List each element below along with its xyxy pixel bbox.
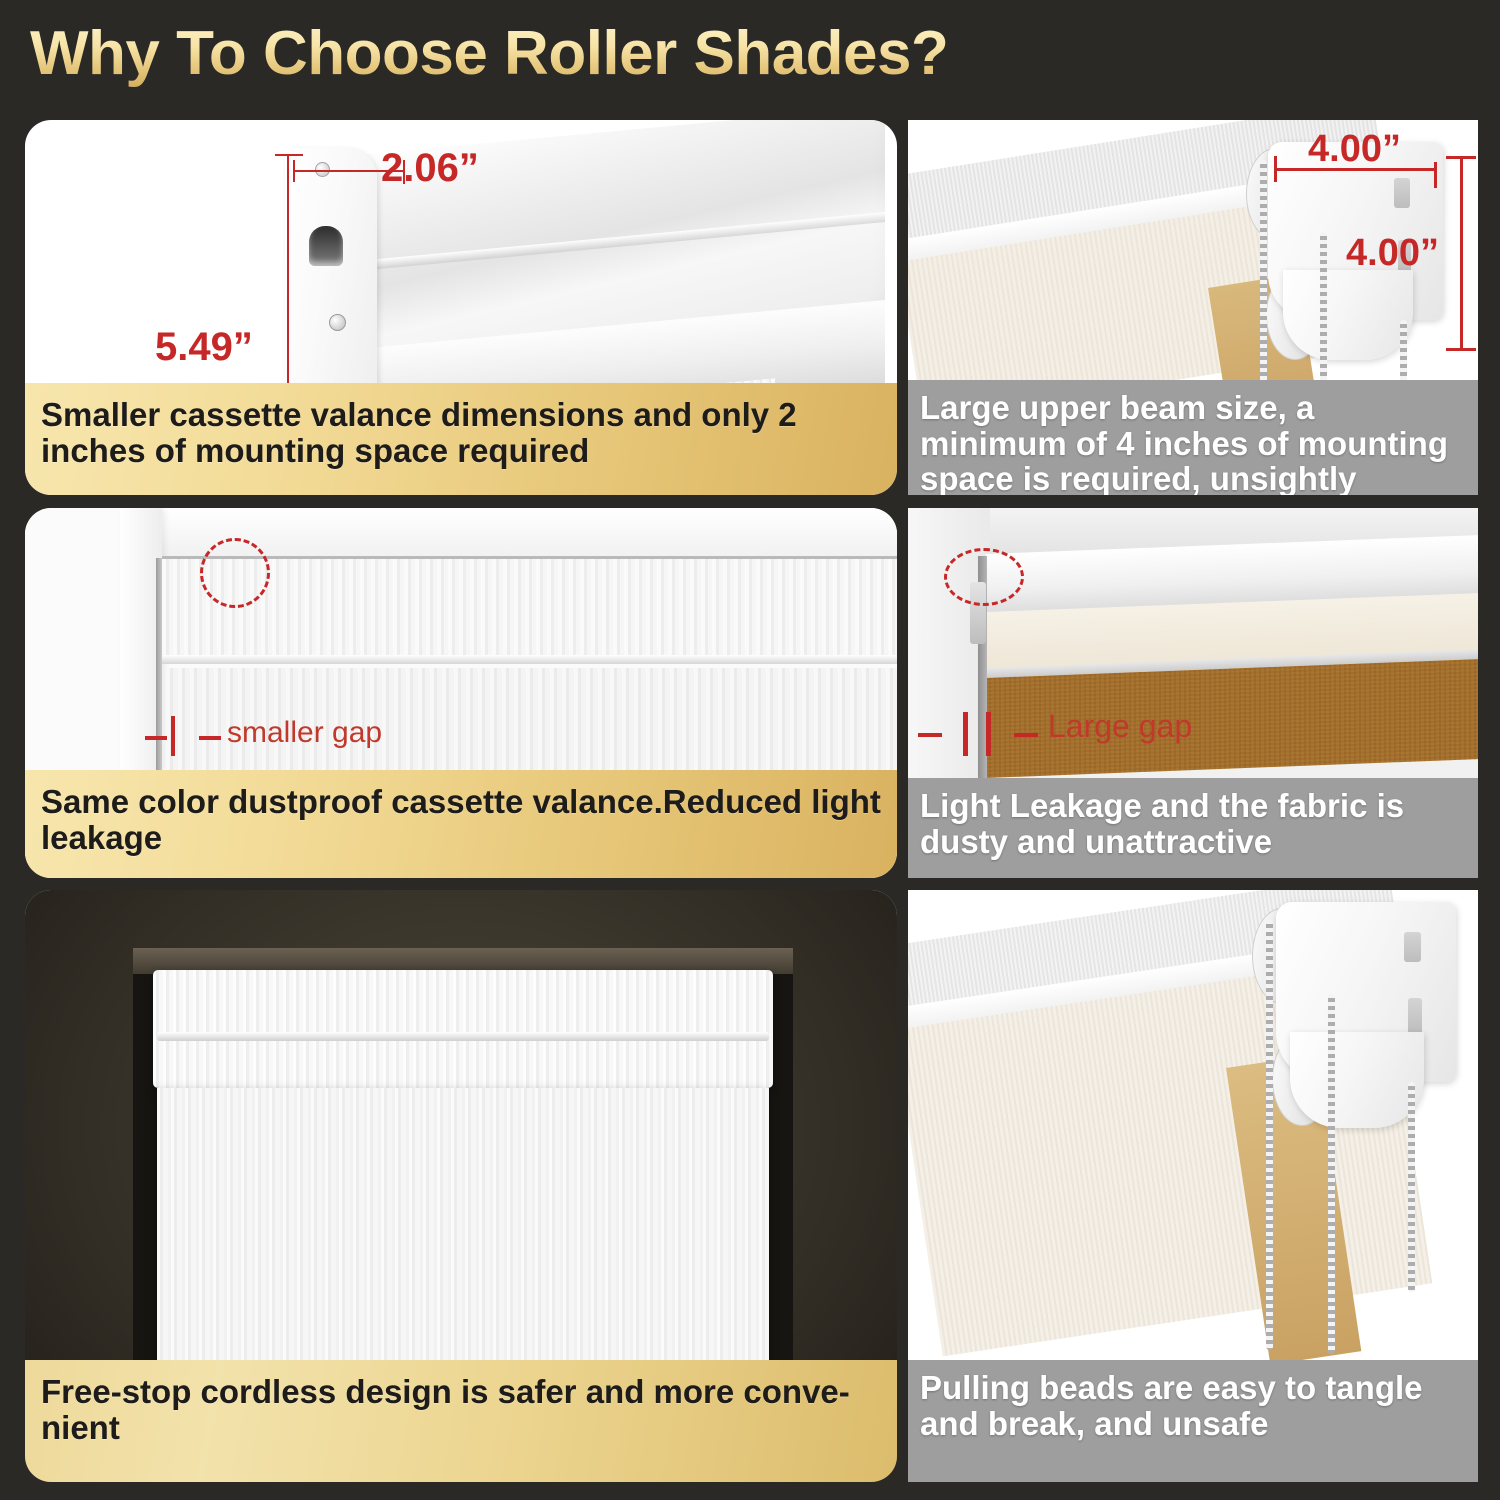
cassette-valance bbox=[153, 970, 773, 1088]
dimension-label-height: 4.00” bbox=[1346, 232, 1439, 275]
dimension-tick bbox=[275, 154, 303, 156]
panel-smaller-cassette: 2.06” 5.49” Smaller cassette valance dim… bbox=[25, 120, 897, 495]
arrow-shaft bbox=[918, 733, 942, 737]
panel-cordless-design: Free-stop cordless design is safer and m… bbox=[25, 890, 897, 1482]
arrow-shaft bbox=[199, 736, 221, 740]
cassette-valance bbox=[162, 556, 897, 664]
page-title: Why To Choose Roller Shades? bbox=[30, 18, 948, 89]
caption-cordless-design: Free-stop cordless design is safer and m… bbox=[25, 1360, 897, 1482]
arrow-shaft bbox=[145, 736, 167, 740]
bead-chain bbox=[1400, 320, 1407, 385]
caption-pulling-beads: Pulling beads are easy to tangle and bre… bbox=[908, 1360, 1478, 1482]
dimension-tick bbox=[1446, 348, 1476, 351]
bead-chain bbox=[1320, 232, 1327, 387]
bead-chain bbox=[1408, 1082, 1415, 1292]
dimension-label-width: 4.00” bbox=[1308, 128, 1401, 171]
caption-large-upper-beam: Large upper beam size, a minimum of 4 in… bbox=[908, 380, 1478, 495]
caption-light-leakage: Light Leakage and the fabric is dusty an… bbox=[908, 778, 1478, 878]
caption-smaller-cassette: Smaller cassette valance dimensions and … bbox=[25, 383, 897, 495]
dimension-tick bbox=[1274, 156, 1277, 182]
cassette-slot bbox=[309, 226, 343, 266]
bead-chain bbox=[1260, 160, 1267, 385]
arrow-shaft bbox=[1014, 733, 1038, 737]
panel-large-upper-beam: 4.00” 4.00” Large upper beam size, a min… bbox=[908, 120, 1478, 495]
dimension-tick bbox=[1434, 162, 1437, 188]
screw-icon bbox=[329, 314, 346, 331]
infographic-root: Why To Choose Roller Shades? 2.06” 5.49”… bbox=[0, 0, 1500, 1500]
panel-smaller-gap: smaller gap Same color dustproof cassett… bbox=[25, 508, 897, 878]
dimension-label-width: 2.06” bbox=[381, 146, 479, 191]
panel-light-leakage: Large gap Light Leakage and the fabric i… bbox=[908, 508, 1478, 878]
annotation-smaller-gap: smaller gap bbox=[227, 716, 382, 750]
highlight-circle-icon bbox=[200, 538, 270, 608]
bead-chain bbox=[1328, 994, 1335, 1354]
bead-chain bbox=[1266, 920, 1273, 1350]
bracket-slot bbox=[1394, 178, 1410, 208]
dimension-tick bbox=[1446, 156, 1476, 159]
highlight-circle-icon bbox=[944, 548, 1024, 606]
bracket-slot bbox=[1408, 998, 1422, 1034]
mounting-bracket-lower bbox=[1283, 270, 1413, 360]
caption-smaller-gap: Same color dustproof cassette valance.Re… bbox=[25, 770, 897, 878]
dimension-tick bbox=[293, 160, 295, 182]
gap-tick bbox=[171, 716, 175, 756]
annotation-large-gap: Large gap bbox=[1048, 708, 1192, 745]
bracket-slot bbox=[1404, 932, 1421, 962]
panel-pulling-beads: Pulling beads are easy to tangle and bre… bbox=[908, 890, 1478, 1482]
dimension-line-vertical bbox=[1460, 156, 1463, 351]
mounting-bracket-lower bbox=[1290, 1032, 1424, 1128]
dimension-label-height: 5.49” bbox=[155, 325, 253, 370]
gap-tick bbox=[986, 712, 991, 756]
shade-fabric bbox=[157, 1088, 769, 1390]
gap-tick bbox=[963, 712, 968, 756]
